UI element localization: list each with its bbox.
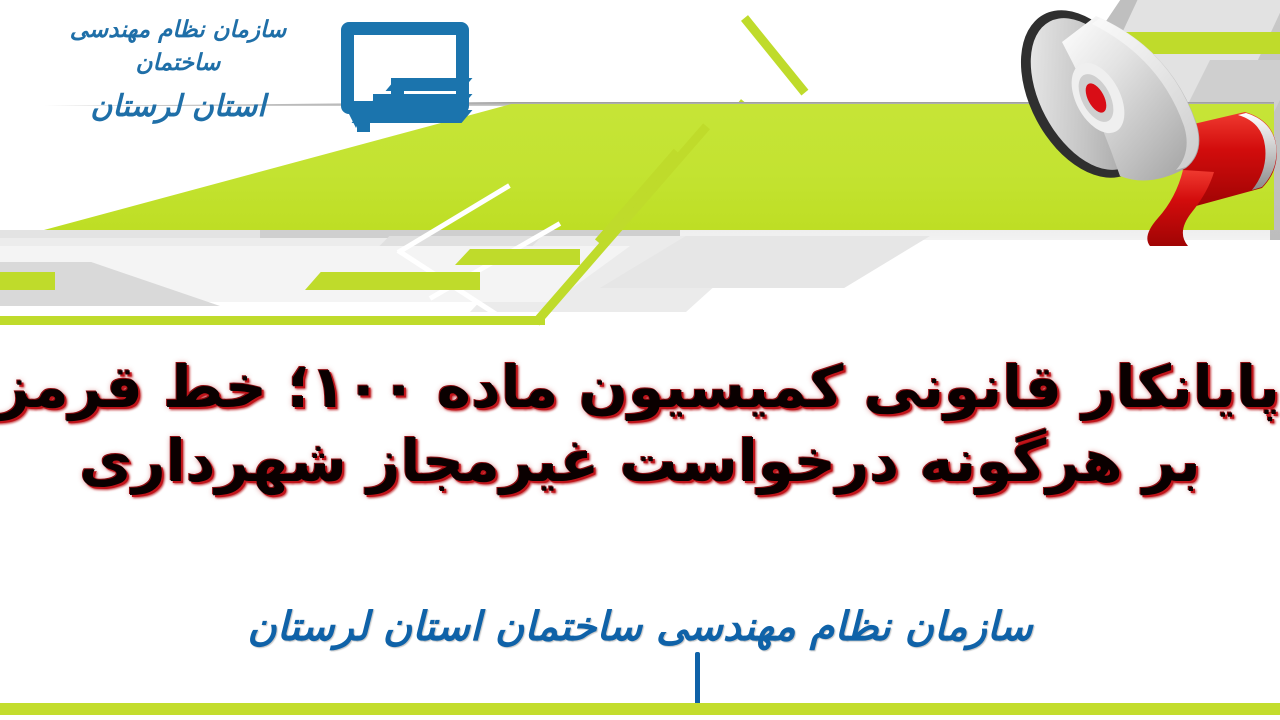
banner-stage: سازمان نظام مهندسی ساختمان استان لرستان … — [0, 0, 1280, 720]
organization-logo-text: سازمان نظام مهندسی ساختمان استان لرستان — [28, 14, 328, 154]
subtitle: سازمان نظام مهندسی ساختمان استان لرستان — [0, 604, 1280, 650]
organization-name-line2: استان لرستان — [28, 85, 328, 129]
green-bar-left — [0, 272, 55, 290]
green-bar-lower-2 — [455, 249, 580, 265]
organization-name-line1: سازمان نظام مهندسی ساختمان — [28, 14, 328, 81]
header-graphic: سازمان نظام مهندسی ساختمان استان لرستان — [0, 0, 1280, 340]
megaphone-icon — [1000, 2, 1280, 247]
white-horizontal-line — [700, 2, 820, 9]
green-bar-lower-1 — [305, 272, 480, 290]
headline-line-1: پایانکار قانونی کمیسیون ماده ۱۰۰؛ خط قرم… — [0, 350, 1280, 424]
headline-line-2: بر هرگونه درخواست غیرمجاز شهرداری — [0, 424, 1280, 498]
headline: پایانکار قانونی کمیسیون ماده ۱۰۰؛ خط قرم… — [0, 350, 1280, 498]
green-rule-horizontal — [0, 316, 545, 325]
footer-green-bar — [0, 703, 1280, 715]
organization-emblem-icon — [337, 18, 477, 138]
